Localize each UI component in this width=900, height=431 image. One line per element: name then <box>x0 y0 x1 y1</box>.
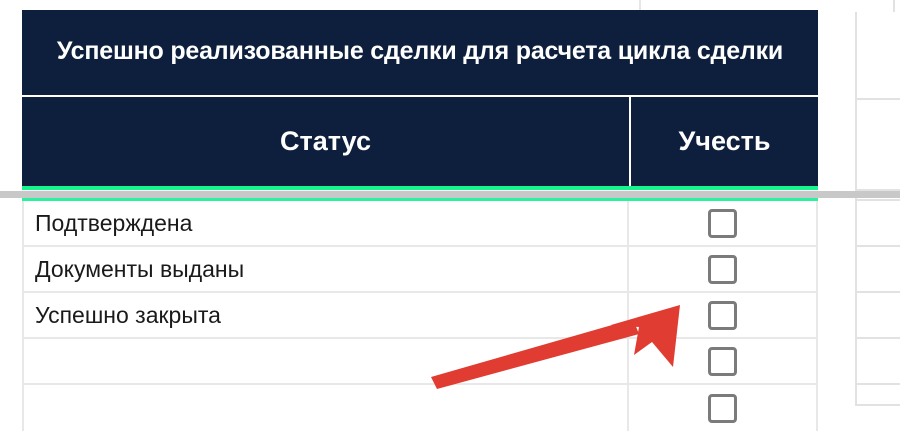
cell-count <box>629 293 818 337</box>
cell-status[interactable] <box>22 385 629 431</box>
cell-status[interactable]: Подтверждена <box>22 201 629 245</box>
cell-count <box>629 385 818 431</box>
table-header-row: Статус Учесть <box>22 95 818 186</box>
empty-grid-cell[interactable] <box>855 201 900 247</box>
table-row[interactable]: Документы выданы <box>22 247 818 293</box>
cell-count <box>629 201 818 245</box>
table-row[interactable] <box>22 339 818 385</box>
checkbox-unchecked-icon[interactable] <box>708 209 737 238</box>
table-row[interactable]: Успешно закрыта <box>22 293 818 339</box>
cell-status[interactable]: Успешно закрыта <box>22 293 629 337</box>
table-row[interactable] <box>22 385 818 431</box>
checkbox-unchecked-icon[interactable] <box>708 301 737 330</box>
empty-grid-cell[interactable] <box>855 100 900 191</box>
cell-count <box>629 339 818 383</box>
table-row[interactable]: Подтверждена <box>22 201 818 247</box>
cell-count <box>629 247 818 291</box>
empty-grid-cell[interactable] <box>855 385 900 406</box>
adjacent-column-top-edge <box>893 0 895 12</box>
cell-status[interactable] <box>22 339 629 383</box>
checkbox-unchecked-icon[interactable] <box>708 347 737 376</box>
adjacent-empty-column <box>855 0 900 406</box>
cell-status[interactable]: Документы выданы <box>22 247 629 291</box>
empty-grid-cell[interactable] <box>855 293 900 339</box>
horizontal-splitter-bar[interactable] <box>0 191 900 198</box>
checkbox-unchecked-icon[interactable] <box>708 255 737 284</box>
checkbox-unchecked-icon[interactable] <box>708 394 737 423</box>
table-body: ПодтвержденаДокументы выданыУспешно закр… <box>22 201 818 431</box>
column-header-status[interactable]: Статус <box>22 97 629 186</box>
empty-grid-cell[interactable] <box>855 12 900 100</box>
empty-grid-cell[interactable] <box>855 339 900 385</box>
accent-underline <box>22 186 818 190</box>
grid-line-vertical-top <box>639 0 641 10</box>
deals-table: Успешно реализованные сделки для расчета… <box>22 10 818 190</box>
screenshot-canvas: Успешно реализованные сделки для расчета… <box>0 0 900 406</box>
table-title: Успешно реализованные сделки для расчета… <box>22 10 818 95</box>
empty-grid-cell[interactable] <box>855 247 900 293</box>
column-header-count[interactable]: Учесть <box>631 97 818 186</box>
